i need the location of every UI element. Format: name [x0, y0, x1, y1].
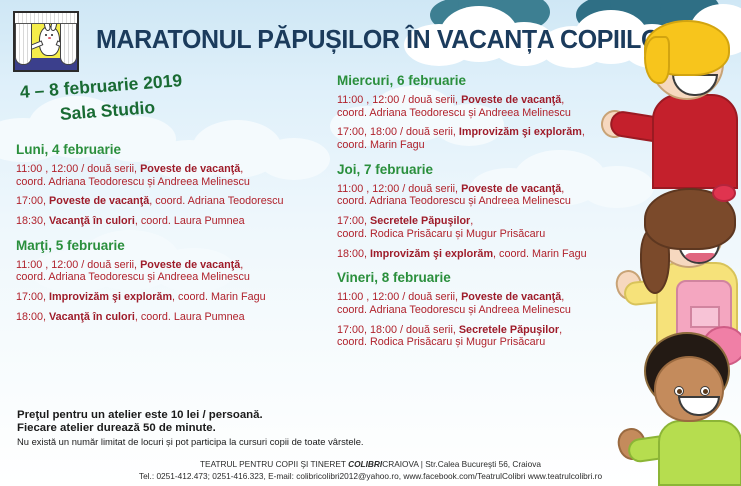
event-title: Improvizăm şi explorăm: [49, 291, 172, 303]
event-time-title-pre: 17:00, 18:00 / două serii,: [337, 324, 459, 336]
day-heading: Marţi, 5 februarie: [16, 239, 346, 254]
event-title-post: ,: [240, 259, 243, 271]
illustration-blond-boy: [628, 22, 741, 187]
day-heading: Vineri, 8 februarie: [337, 271, 637, 286]
logo-valance: [15, 13, 77, 24]
event-title-post: ,: [561, 183, 564, 195]
event-time-title-pre: 17:00,: [16, 195, 49, 207]
schedule-column-left: Luni, 4 februarie 11:00 , 12:00 / două s…: [16, 143, 346, 335]
event-title: Poveste de vacanţă: [140, 259, 240, 271]
illustration-brunette-girl: [630, 188, 741, 346]
event-title: Poveste de vacanţă: [140, 163, 240, 175]
event-title-post: ,: [561, 291, 564, 303]
event-time-title-pre: 18:00,: [16, 311, 49, 323]
event-coordinators: coord. Adriana Teodorescu și Andreea Mel…: [337, 304, 637, 317]
event-title: Poveste de vacanţă: [461, 183, 561, 195]
footer-line-1: TEATRUL PENTRU COPII ŞI TINERET COLIBRIC…: [0, 458, 741, 470]
event-coordinators: coord. Adriana Teodorescu și Andreea Mel…: [16, 271, 346, 284]
page-title: MARATONUL PĂPUȘILOR ÎN VACANȚA COPIILOR: [96, 26, 645, 55]
footer-theatre-pre: TEATRUL PENTRU COPII ŞI TINERET: [200, 459, 348, 469]
event-title: Vacanţă în culori: [49, 215, 135, 227]
event-title-post: , coord. Adriana Teodorescu: [149, 195, 283, 207]
day-heading: Luni, 4 februarie: [16, 143, 346, 158]
event-coordinators: coord. Rodica Prisăcaru și Mugur Prisăca…: [337, 336, 637, 349]
day-group: Marţi, 5 februarie 11:00 , 12:00 / două …: [16, 239, 346, 324]
event-time-title-pre: 18:00,: [337, 248, 370, 260]
event-coordinators: coord. Adriana Teodorescu și Andreea Mel…: [16, 176, 346, 189]
event-time-title-pre: 11:00 , 12:00 / două serii,: [16, 163, 140, 175]
event-title: Vacanţă în culori: [49, 311, 135, 323]
event-time-title-pre: 11:00 , 12:00 / două serii,: [337, 94, 461, 106]
event-title-post: , coord. Laura Pumnea: [135, 215, 245, 227]
event-time-title-pre: 11:00 , 12:00 / două serii,: [16, 259, 140, 271]
event-title: Secretele Păpuşilor: [459, 324, 559, 336]
event-title: Improvizăm şi explorăm: [459, 126, 582, 138]
price-info-block: Preţul pentru un atelier este 10 lei / p…: [17, 409, 367, 448]
event-time-title-pre: 17:00,: [16, 291, 49, 303]
event-item: 11:00 , 12:00 / două serii, Poveste de v…: [16, 259, 346, 284]
event-item: 11:00 , 12:00 / două serii, Poveste de v…: [337, 183, 637, 208]
event-time-title-pre: 17:00, 18:00 / două serii,: [337, 126, 459, 138]
event-item: 11:00 , 12:00 / două serii, Poveste de v…: [337, 94, 637, 119]
day-heading: Joi, 7 februarie: [337, 163, 637, 178]
event-item: 17:00, Improvizăm şi explorăm, coord. Ma…: [16, 291, 346, 304]
capacity-note: Nu există un număr limitat de locuri și …: [17, 436, 367, 448]
price-line: Preţul pentru un atelier este 10 lei / p…: [17, 409, 367, 422]
footer-theatre-name: COLIBRI: [348, 459, 382, 469]
event-item: 18:00, Vacanţă în culori, coord. Laura P…: [16, 311, 346, 324]
logo-bunny-puppet: [39, 26, 60, 56]
event-item: 11:00 , 12:00 / două serii, Poveste de v…: [16, 163, 346, 188]
event-dates-block: 4 – 8 februarie 2019 Sala Studio: [16, 82, 256, 125]
event-item: 17:00, Secretele Păpuşilor, coord. Rodic…: [337, 215, 637, 240]
event-item: 17:00, 18:00 / două serii, Secretele Păp…: [337, 324, 637, 349]
event-title-post: , coord. Marin Fagu: [493, 248, 587, 260]
footer-contact: TEATRUL PENTRU COPII ŞI TINERET COLIBRIC…: [0, 458, 741, 482]
day-group: Luni, 4 februarie 11:00 , 12:00 / două s…: [16, 143, 346, 228]
event-title: Secretele Păpuşilor: [370, 215, 470, 227]
event-time-title-pre: 18:30,: [16, 215, 49, 227]
event-title-post: ,: [470, 215, 473, 227]
event-title-post: ,: [582, 126, 585, 138]
event-title: Improvizăm şi explorăm: [370, 248, 493, 260]
event-item: 18:00, Improvizăm şi explorăm, coord. Ma…: [337, 248, 637, 261]
puppet-theatre-logo-icon: [13, 11, 79, 72]
event-time-title-pre: 17:00,: [337, 215, 370, 227]
footer-line-2: Tel.: 0251-412.473; 0251-416.323, E-mail…: [0, 470, 741, 482]
event-title-post: , coord. Laura Pumnea: [135, 311, 245, 323]
event-coordinators: coord. Adriana Teodorescu și Andreea Mel…: [337, 107, 637, 120]
event-title-post: ,: [240, 163, 243, 175]
event-title-post: , coord. Marin Fagu: [172, 291, 266, 303]
event-time-title-pre: 11:00 , 12:00 / două serii,: [337, 291, 461, 303]
event-title: Poveste de vacanţă: [49, 195, 149, 207]
day-group: Miercuri, 6 februarie 11:00 , 12:00 / do…: [337, 74, 637, 152]
day-heading: Miercuri, 6 februarie: [337, 74, 637, 89]
day-group: Joi, 7 februarie 11:00 , 12:00 / două se…: [337, 163, 637, 261]
event-item: 11:00 , 12:00 / două serii, Poveste de v…: [337, 291, 637, 316]
event-time-title-pre: 11:00 , 12:00 / două serii,: [337, 183, 461, 195]
footer-theatre-post: CRAIOVA | Str.Calea Bucureşti 56, Craiov…: [382, 459, 541, 469]
event-item: 17:00, Poveste de vacanţă, coord. Adrian…: [16, 195, 346, 208]
day-group: Vineri, 8 februarie 11:00 , 12:00 / două…: [337, 271, 637, 349]
event-title: Poveste de vacanţă: [461, 94, 561, 106]
event-item: 17:00, 18:00 / două serii, Improvizăm şi…: [337, 126, 637, 151]
event-coordinators: coord. Adriana Teodorescu și Andreea Mel…: [337, 195, 637, 208]
schedule-column-right: Miercuri, 6 februarie 11:00 , 12:00 / do…: [337, 74, 637, 360]
event-title: Poveste de vacanţă: [461, 291, 561, 303]
event-coordinators: coord. Marin Fagu: [337, 139, 637, 152]
event-title-post: ,: [561, 94, 564, 106]
event-title-post: ,: [559, 324, 562, 336]
poster-canvas: MARATONUL PĂPUȘILOR ÎN VACANȚA COPIILOR …: [0, 0, 741, 486]
event-coordinators: coord. Rodica Prisăcaru și Mugur Prisăca…: [337, 228, 637, 241]
duration-line: Fiecare atelier durează 50 de minute.: [17, 422, 367, 435]
event-item: 18:30, Vacanţă în culori, coord. Laura P…: [16, 215, 346, 228]
